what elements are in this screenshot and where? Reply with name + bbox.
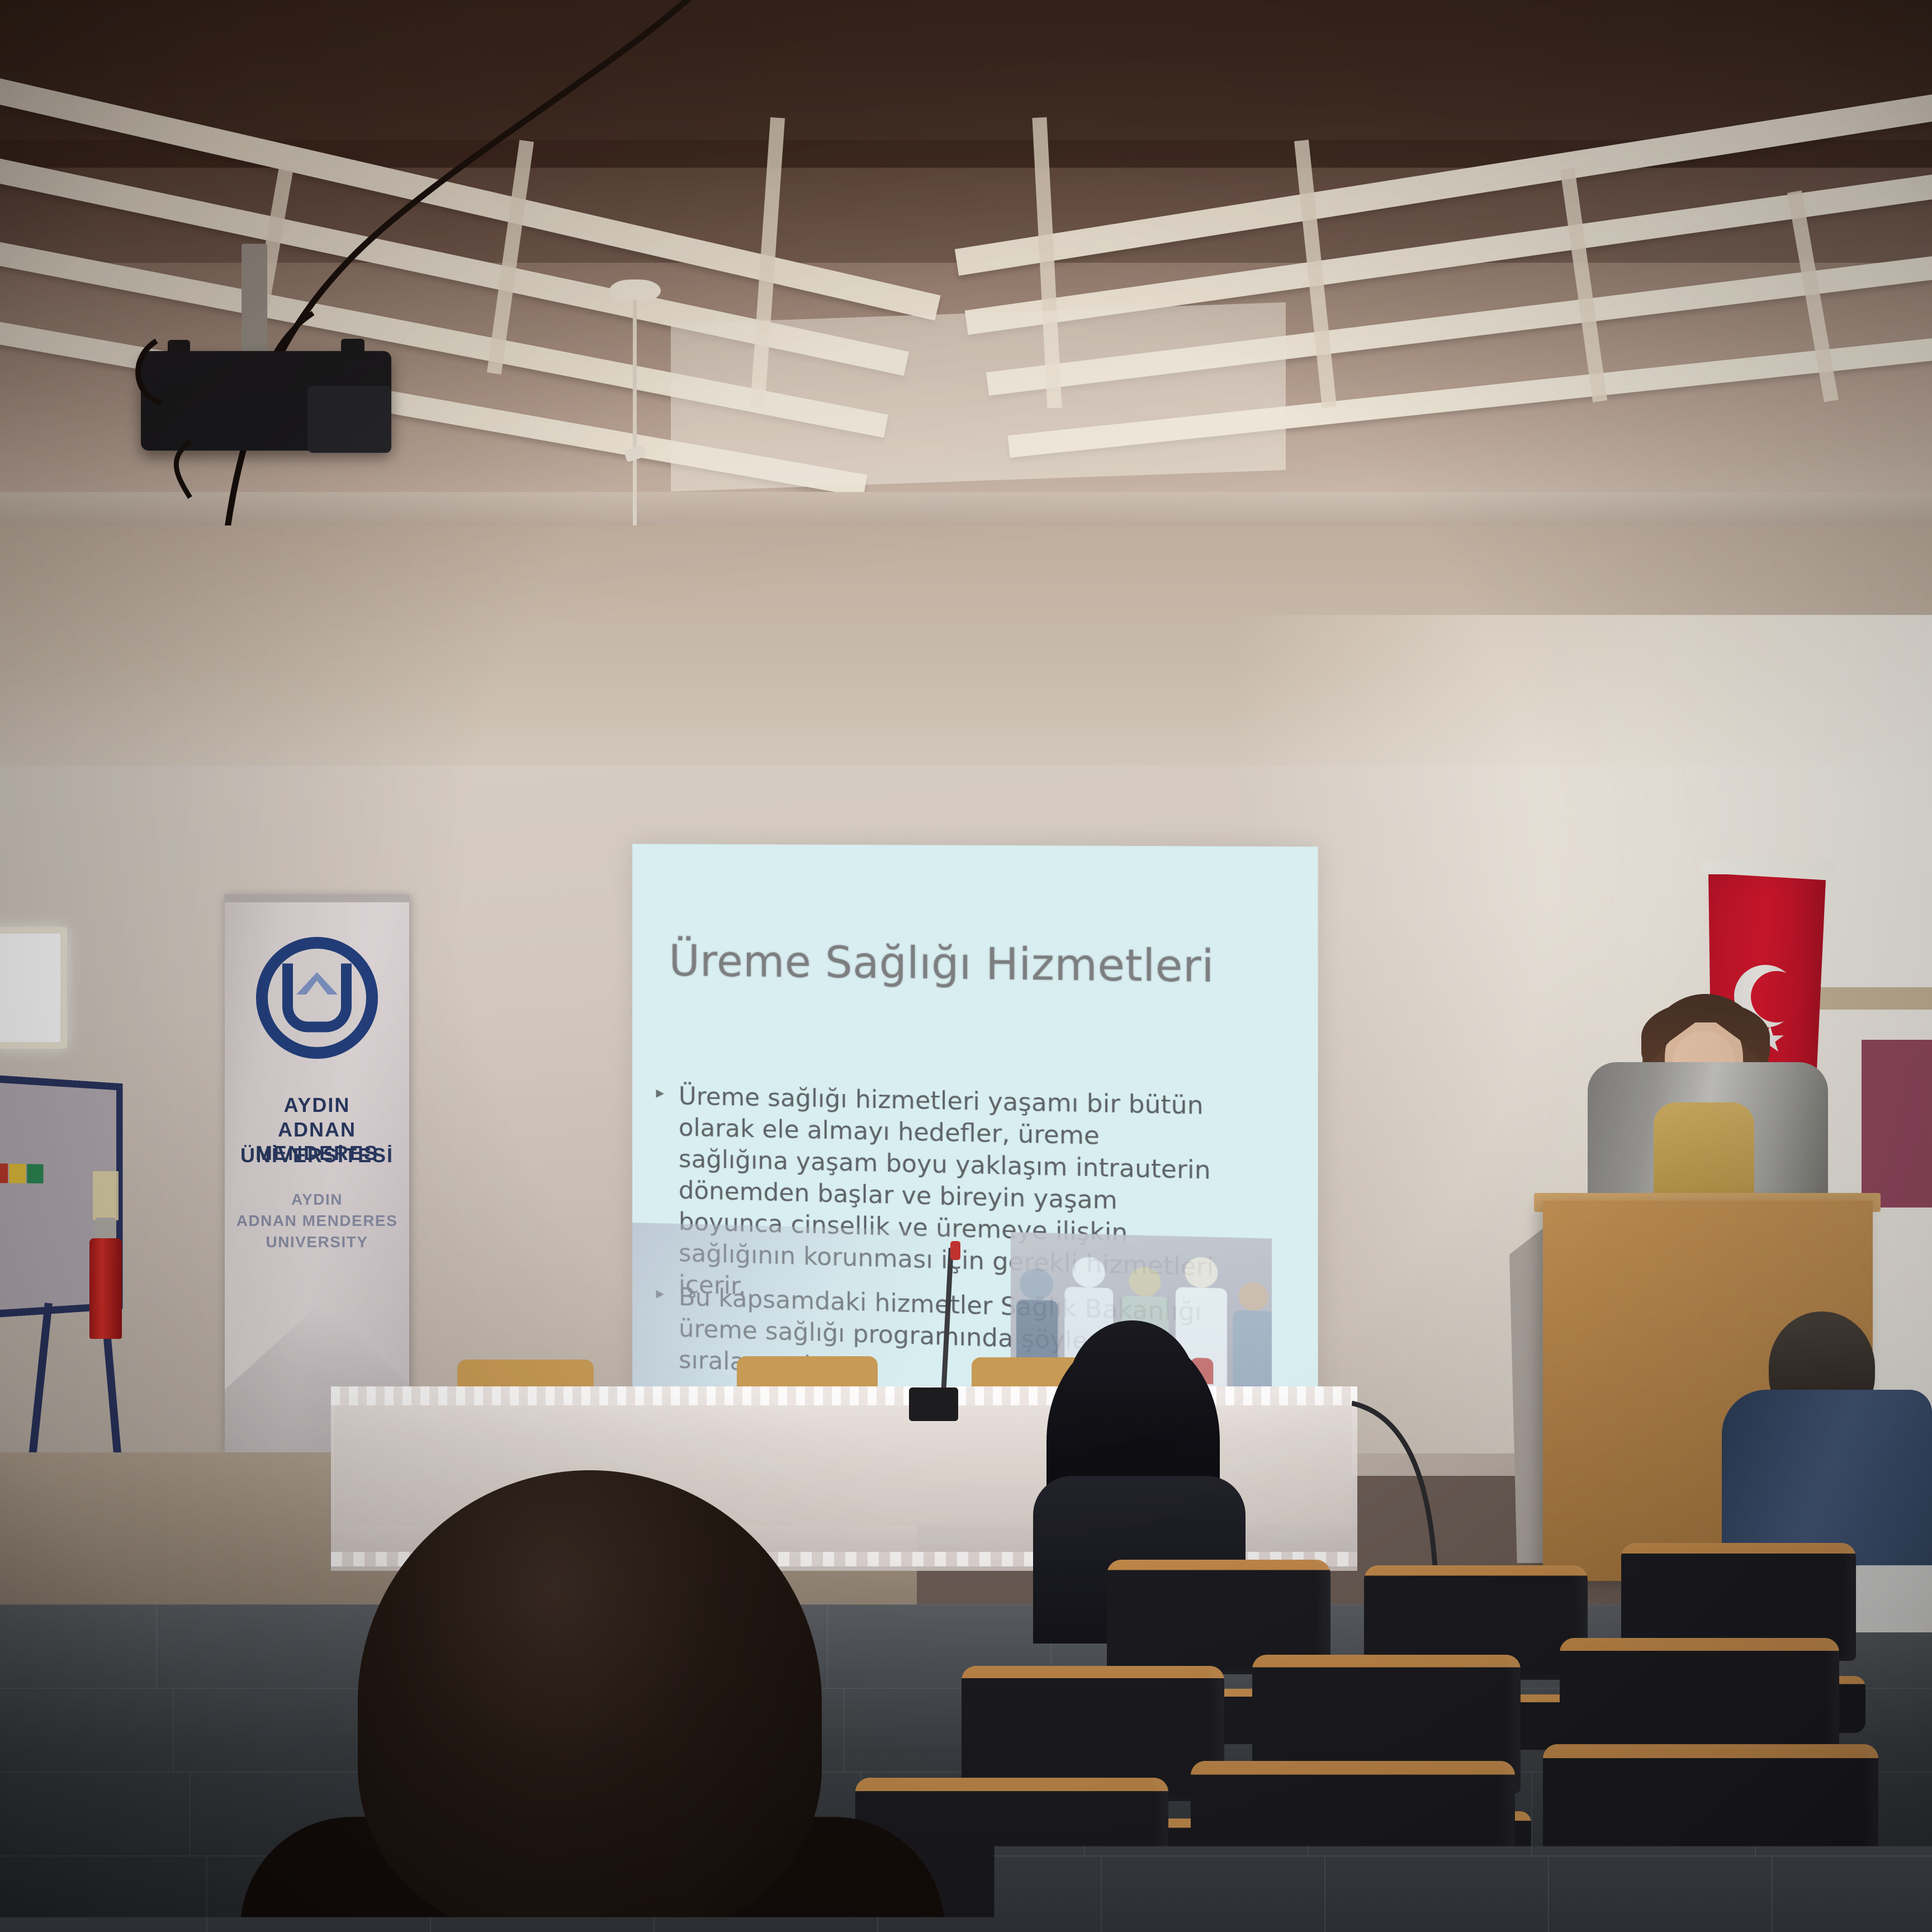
- audience-chairs: [0, 0, 1932, 1932]
- chair-back: [1543, 1744, 1878, 1900]
- chair-seat: [1529, 1920, 1892, 1932]
- conference-hall-scene: Üreme Sağlığı Hizmetleri ▸ Üreme sağlığı…: [0, 0, 1932, 1932]
- audience-foreground-head: [358, 1470, 822, 1932]
- chair-back: [1191, 1761, 1515, 1914]
- audience-chair-r3-c3[interactable]: [1543, 1744, 1878, 1932]
- audience-chair-r3-c2[interactable]: [1191, 1761, 1515, 1932]
